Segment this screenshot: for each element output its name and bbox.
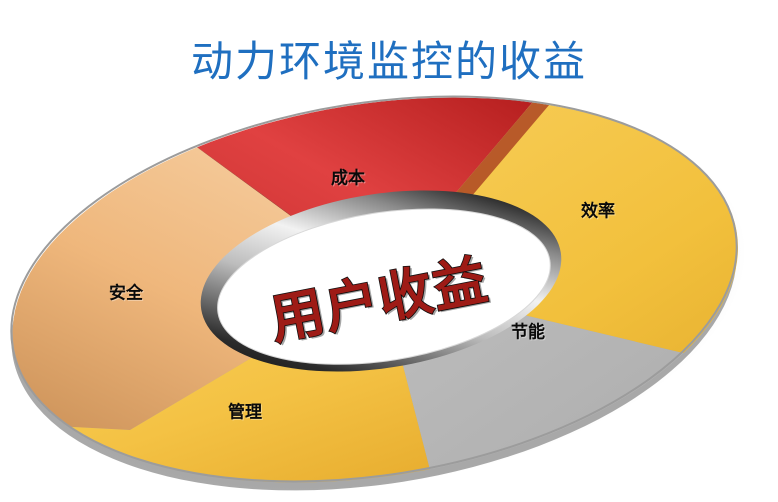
slice-label-anquan: 安全 <box>109 279 143 304</box>
slide-canvas: 动力环境监控的收益 <box>0 0 778 502</box>
slice-label-chengben: 成本 <box>331 164 365 189</box>
slice-label-jieneng: 节能 <box>511 318 545 343</box>
donut-chart-graphic <box>0 0 778 502</box>
slice-label-xiaolv: 效率 <box>581 197 615 222</box>
slice-label-guanli: 管理 <box>228 398 262 423</box>
